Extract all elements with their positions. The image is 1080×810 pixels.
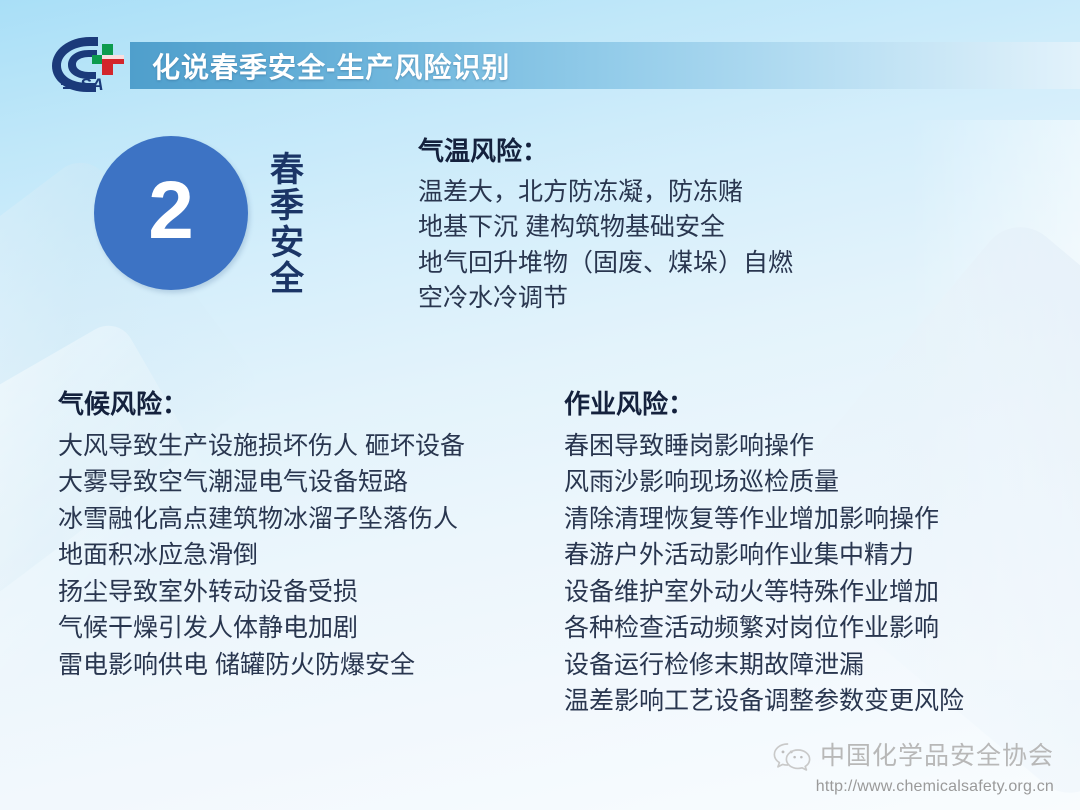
climate-risk-heading: 气候风险：: [58, 388, 558, 422]
list-item: 设备维护室外动火等特殊作业增加: [564, 574, 1064, 611]
climate-risk-list: 大风导致生产设施损坏伤人 砸坏设备 大雾导致空气潮湿电气设备短路 冰雪融化高点建…: [58, 428, 558, 684]
list-item: 春困导致睡岗影响操作: [564, 428, 1064, 465]
slide-canvas: SA 化说春季安全-生产风险识别 2 春 季 安 全 气温风险： 温差大，北方防…: [0, 0, 1080, 810]
section-vertical-label: 春 季 安 全: [264, 152, 310, 298]
list-item: 清除清理恢复等作业增加影响操作: [564, 501, 1064, 538]
list-item: 春游户外活动影响作业集中精力: [564, 537, 1064, 574]
slide-footer: 中国化学品安全协会 http://www.chemicalsafety.org.…: [772, 741, 1054, 796]
list-item: 温差影响工艺设备调整参数变更风险: [564, 683, 1064, 720]
footer-organization: 中国化学品安全协会: [820, 744, 1054, 769]
footer-brand: 中国化学品安全协会: [772, 741, 1054, 771]
list-item: 风雨沙影响现场巡检质量: [564, 464, 1064, 501]
climate-risk-block: 气候风险： 大风导致生产设施损坏伤人 砸坏设备 大雾导致空气潮湿电气设备短路 冰…: [58, 388, 558, 683]
work-risk-list: 春困导致睡岗影响操作 风雨沙影响现场巡检质量 清除清理恢复等作业增加影响操作 春…: [564, 428, 1064, 720]
vertical-char-4: 全: [264, 261, 310, 297]
list-item: 地面积冰应急滑倒: [58, 537, 558, 574]
title-banner: 化说春季安全-生产风险识别: [130, 42, 1080, 89]
list-item: 地气回升堆物（固废、煤垛）自燃: [418, 246, 1018, 282]
section-number: 2: [148, 170, 194, 252]
temperature-risk-list: 温差大，北方防冻凝，防冻赌 地基下沉 建构筑物基础安全 地气回升堆物（固废、煤垛…: [418, 175, 1018, 317]
work-risk-block: 作业风险： 春困导致睡岗影响操作 风雨沙影响现场巡检质量 清除清理恢复等作业增加…: [564, 388, 1064, 720]
list-item: 雷电影响供电 储罐防火防爆安全: [58, 647, 558, 684]
temperature-risk-heading: 气温风险：: [418, 135, 1018, 169]
footer-url: http://www.chemicalsafety.org.cn: [772, 778, 1054, 796]
page-title: 化说春季安全-生产风险识别: [152, 46, 510, 86]
list-item: 各种检查活动频繁对岗位作业影响: [564, 610, 1064, 647]
vertical-char-1: 春: [264, 152, 310, 188]
list-item: 空冷水冷调节: [418, 281, 1018, 317]
wechat-icon: [772, 741, 812, 771]
temperature-risk-block: 气温风险： 温差大，北方防冻凝，防冻赌 地基下沉 建构筑物基础安全 地气回升堆物…: [418, 135, 1018, 317]
csa-logo-icon: SA: [46, 33, 126, 95]
list-item: 设备运行检修末期故障泄漏: [564, 647, 1064, 684]
work-risk-heading: 作业风险：: [564, 388, 1064, 422]
list-item: 地基下沉 建构筑物基础安全: [418, 210, 1018, 246]
list-item: 扬尘导致室外转动设备受损: [58, 574, 558, 611]
list-item: 气候干燥引发人体静电加剧: [58, 610, 558, 647]
slide-header: SA 化说春季安全-生产风险识别: [0, 0, 1080, 110]
list-item: 大风导致生产设施损坏伤人 砸坏设备: [58, 428, 558, 465]
list-item: 大雾导致空气潮湿电气设备短路: [58, 464, 558, 501]
list-item: 温差大，北方防冻凝，防冻赌: [418, 175, 1018, 211]
svg-text:SA: SA: [80, 75, 104, 94]
vertical-char-2: 季: [264, 188, 310, 224]
vertical-char-3: 安: [264, 225, 310, 261]
section-number-badge: 2: [94, 136, 248, 290]
list-item: 冰雪融化高点建筑物冰溜子坠落伤人: [58, 501, 558, 538]
